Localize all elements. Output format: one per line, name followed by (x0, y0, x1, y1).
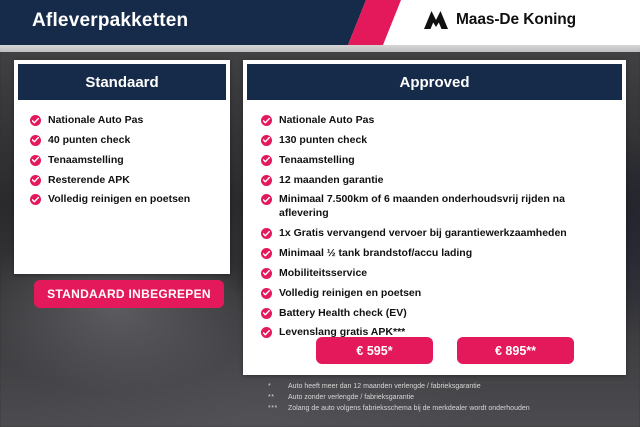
feature-item: Minimaal ½ tank brandstof/accu lading (261, 247, 609, 261)
package-heading-approved: Approved (247, 64, 622, 100)
check-circle-icon (30, 175, 41, 186)
package-card-standaard: Standaard Nationale Auto Pas40 punten ch… (14, 60, 230, 274)
footnote-text: Auto heeft meer dan 12 maanden verlengde… (288, 382, 481, 393)
feature-item: Volledig reinigen en poetsen (30, 193, 230, 207)
feature-item: 1x Gratis vervangend vervoer bij garanti… (261, 227, 609, 241)
feature-item: Nationale Auto Pas (261, 114, 609, 128)
maas-de-koning-m-logo-icon (424, 11, 448, 29)
standaard-inbegrepen-button[interactable]: STANDAARD INBEGREPEN (34, 280, 224, 308)
feature-label: Resterende APK (48, 174, 130, 188)
footnote-row: ***Zolang de auto volgens fabrieksschema… (268, 404, 618, 415)
feature-label: Battery Health check (EV) (279, 307, 407, 321)
footnote-text: Auto zonder verlengde / fabrieksgarantie (288, 393, 414, 404)
feature-item: Resterende APK (30, 174, 230, 188)
page-title: Afleverpakketten (32, 10, 188, 32)
check-circle-icon (30, 155, 41, 166)
check-circle-icon (261, 228, 272, 239)
package-heading-standaard: Standaard (18, 64, 226, 100)
check-circle-icon (261, 135, 272, 146)
feature-label: Minimaal 7.500km of 6 maanden onderhouds… (279, 193, 609, 221)
feature-list-approved: Nationale Auto Pas130 punten checkTenaam… (261, 114, 609, 340)
feature-item: Nationale Auto Pas (30, 114, 230, 128)
feature-item: Battery Health check (EV) (261, 307, 609, 321)
price-button[interactable]: € 895** (457, 337, 574, 364)
feature-item: Tenaamstelling (30, 154, 230, 168)
check-circle-icon (261, 115, 272, 126)
footnote-marker: * (268, 382, 282, 393)
feature-item: 40 punten check (30, 134, 230, 148)
background-light-strip (0, 44, 640, 52)
check-circle-icon (261, 155, 272, 166)
feature-label: 1x Gratis vervangend vervoer bij garanti… (279, 227, 567, 241)
feature-label: Nationale Auto Pas (48, 114, 143, 128)
footnote-marker: ** (268, 393, 282, 404)
feature-item: Volledig reinigen en poetsen (261, 287, 609, 301)
price-button-row: € 595*€ 895** (316, 337, 574, 364)
check-circle-icon (261, 308, 272, 319)
feature-label: Minimaal ½ tank brandstof/accu lading (279, 247, 472, 261)
feature-label: Tenaamstelling (48, 154, 124, 168)
feature-label: Volledig reinigen en poetsen (279, 287, 421, 301)
feature-label: Tenaamstelling (279, 154, 355, 168)
check-circle-icon (261, 327, 272, 338)
check-circle-icon (261, 268, 272, 279)
feature-label: 12 maanden garantie (279, 174, 383, 188)
brand-lockup: Maas-De Koning (424, 11, 576, 29)
feature-label: Nationale Auto Pas (279, 114, 374, 128)
footnotes: *Auto heeft meer dan 12 maanden verlengd… (268, 382, 618, 415)
footnote-row: **Auto zonder verlengde / fabrieksgarant… (268, 393, 618, 404)
feature-label: 40 punten check (48, 134, 130, 148)
feature-item: Tenaamstelling (261, 154, 609, 168)
footnote-text: Zolang de auto volgens fabrieksschema bi… (288, 404, 530, 415)
feature-label: 130 punten check (279, 134, 367, 148)
check-circle-icon (261, 248, 272, 259)
price-button[interactable]: € 595* (316, 337, 433, 364)
feature-item: Mobiliteitsservice (261, 267, 609, 281)
check-circle-icon (261, 194, 272, 205)
check-circle-icon (30, 194, 41, 205)
footnote-marker: *** (268, 404, 282, 415)
check-circle-icon (30, 115, 41, 126)
check-circle-icon (30, 135, 41, 146)
footnote-row: *Auto heeft meer dan 12 maanden verlengd… (268, 382, 618, 393)
brand-name: Maas-De Koning (456, 11, 576, 29)
package-card-approved: Approved Nationale Auto Pas130 punten ch… (243, 60, 626, 375)
check-circle-icon (261, 288, 272, 299)
feature-label: Mobiliteitsservice (279, 267, 367, 281)
feature-item: 12 maanden garantie (261, 174, 609, 188)
check-circle-icon (261, 175, 272, 186)
feature-item: Minimaal 7.500km of 6 maanden onderhouds… (261, 193, 609, 221)
feature-list-standaard: Nationale Auto Pas40 punten checkTenaams… (30, 114, 230, 207)
page-header: Afleverpakketten Maas-De Koning (0, 0, 640, 45)
feature-label: Volledig reinigen en poetsen (48, 193, 190, 207)
feature-item: 130 punten check (261, 134, 609, 148)
